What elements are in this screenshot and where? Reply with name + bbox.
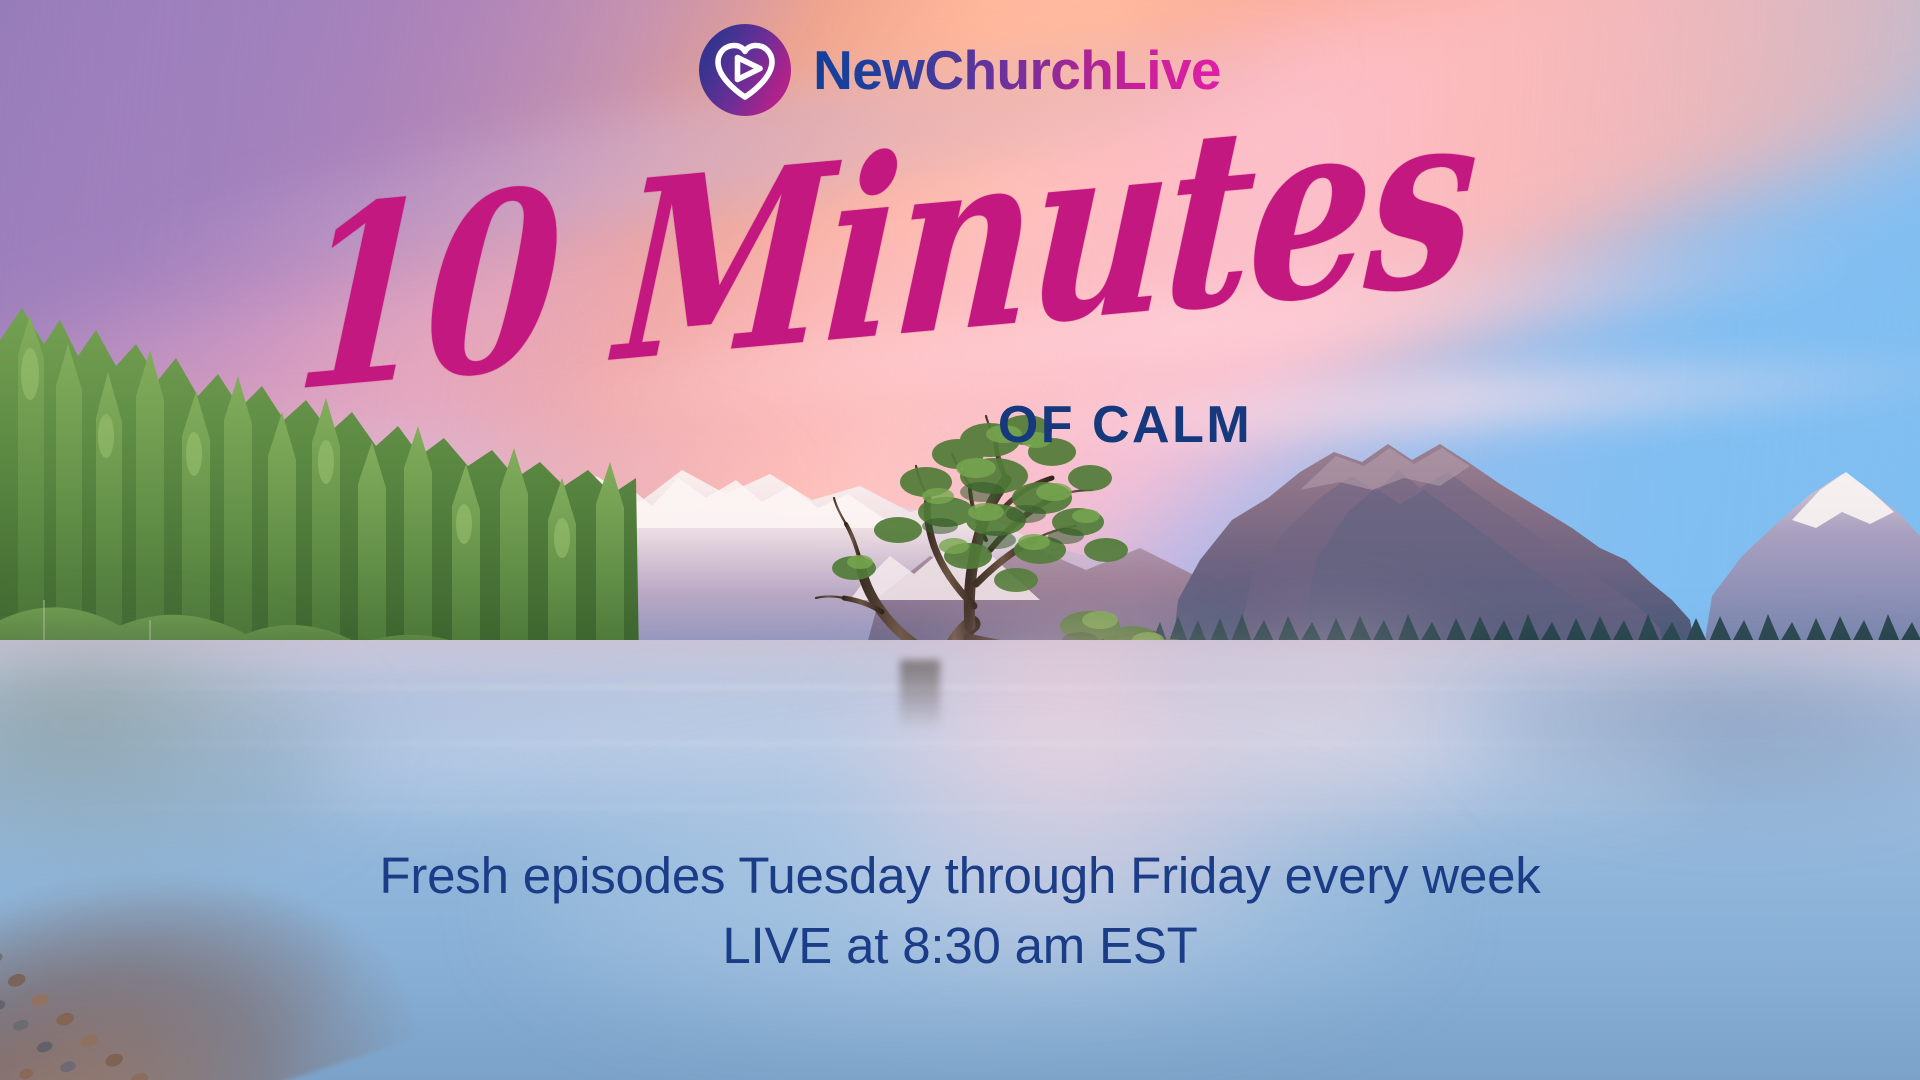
trunk-reflection bbox=[900, 660, 940, 730]
promo-graphic: NewChurchLive 10 Minutes OF CALM Fresh e… bbox=[0, 0, 1920, 1080]
brand-lockup[interactable]: NewChurchLive bbox=[0, 22, 1920, 118]
heart-play-icon bbox=[699, 24, 791, 116]
brand-wordmark: NewChurchLive bbox=[813, 43, 1221, 98]
water-streak-1 bbox=[0, 686, 1920, 689]
water-streak-2 bbox=[0, 742, 1920, 745]
